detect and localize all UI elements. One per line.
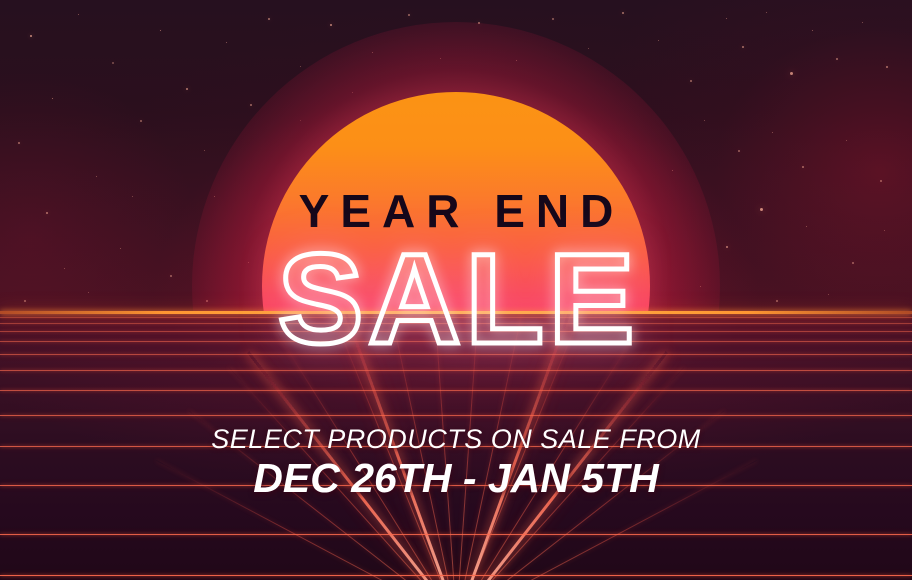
star-dot bbox=[186, 88, 188, 90]
star-dot bbox=[726, 18, 727, 19]
star-dot bbox=[862, 22, 863, 23]
star-dot bbox=[112, 62, 114, 64]
star-dot bbox=[836, 58, 838, 60]
star-dot bbox=[140, 120, 142, 122]
star-dot bbox=[78, 14, 79, 15]
grid-horizontal-line bbox=[0, 415, 912, 416]
star-dot bbox=[812, 30, 813, 31]
star-dot bbox=[160, 30, 161, 31]
star-dot bbox=[766, 12, 767, 13]
star-dot bbox=[846, 140, 847, 141]
star-dot bbox=[802, 166, 804, 168]
star-dot bbox=[440, 58, 441, 59]
star-dot bbox=[300, 66, 301, 67]
star-dot bbox=[18, 142, 20, 144]
grid-horizontal-line bbox=[0, 575, 912, 576]
star-dot bbox=[772, 132, 773, 133]
star-dot bbox=[330, 24, 332, 26]
star-dot bbox=[738, 150, 740, 152]
star-dot bbox=[588, 48, 589, 49]
star-dot bbox=[30, 35, 32, 37]
star-dot bbox=[226, 42, 227, 43]
grid-horizontal-line bbox=[0, 390, 912, 391]
star-dot bbox=[96, 176, 97, 177]
star-dot bbox=[672, 170, 673, 171]
star-dot bbox=[886, 66, 888, 68]
star-dot bbox=[552, 18, 554, 20]
star-dot bbox=[268, 18, 270, 20]
star-dot bbox=[690, 80, 692, 82]
star-dot bbox=[204, 150, 205, 151]
star-dot bbox=[658, 40, 659, 41]
promo-tagline: SELECT PRODUCTS ON SALE FROM bbox=[0, 426, 912, 453]
star-dot bbox=[408, 14, 410, 16]
star-dot bbox=[478, 22, 480, 24]
star-dot bbox=[704, 120, 705, 121]
star-dot bbox=[52, 98, 53, 99]
promo-dates: DEC 26TH - JAN 5TH bbox=[0, 458, 912, 499]
star-dot bbox=[250, 104, 252, 106]
star-dot bbox=[622, 12, 624, 14]
year-end-sale-banner: YEAR END SALE SELECT PRODUCTS ON SALE FR… bbox=[0, 0, 912, 580]
grid-horizontal-line bbox=[0, 534, 912, 535]
star-dot bbox=[790, 72, 793, 75]
star-dot bbox=[516, 60, 517, 61]
star-dot bbox=[372, 52, 373, 53]
star-dot bbox=[880, 180, 882, 182]
star-dot bbox=[742, 46, 744, 48]
sale-headline: SALE bbox=[0, 236, 912, 364]
